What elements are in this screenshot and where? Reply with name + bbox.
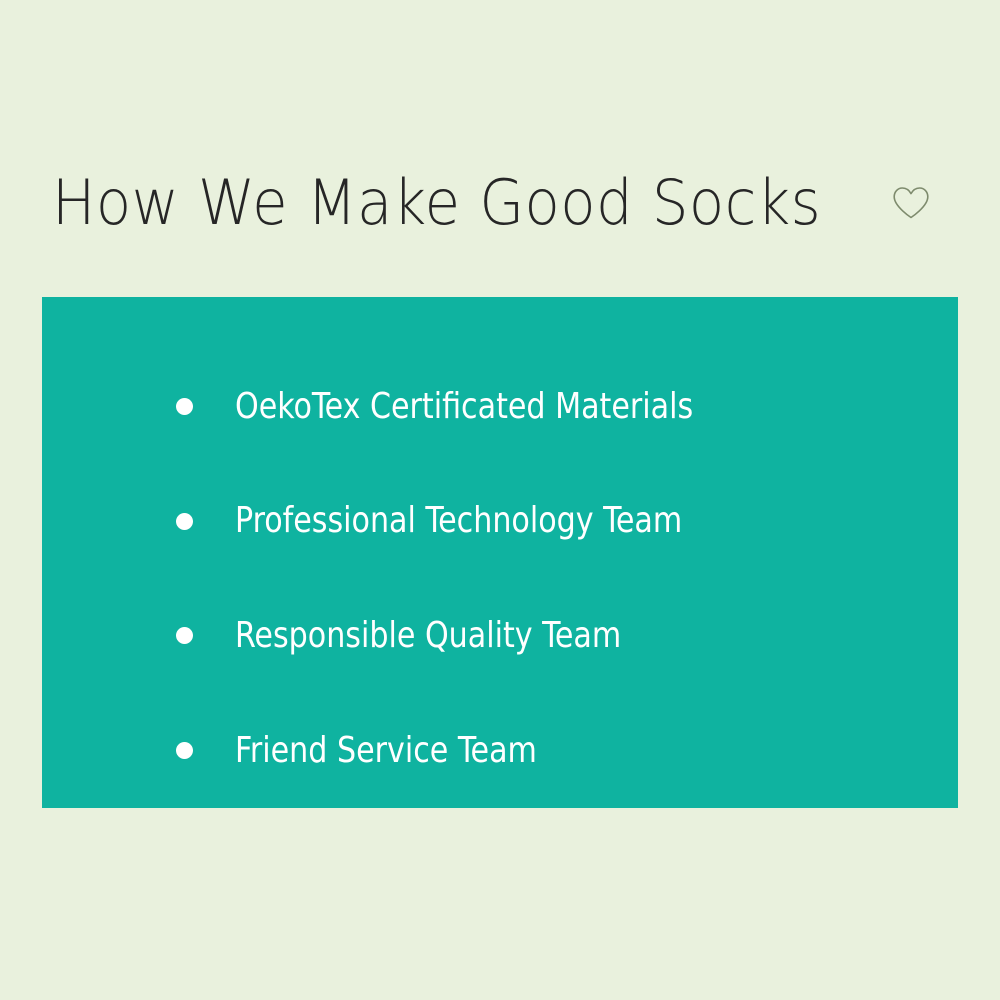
list-item-label: OekoTex Certificated Materials [235,387,693,427]
like-button[interactable] [888,180,934,226]
list-item: Friend Service Team [42,693,958,808]
list-item: OekoTex Certificated Materials [42,349,958,464]
list-item-label: Professional Technology Team [235,501,682,541]
list-item-label: Responsible Quality Team [235,616,621,656]
bullet-dot-icon [176,627,193,644]
list-item-label: Friend Service Team [235,731,537,771]
card-header: How We Make Good Socks [52,160,942,246]
feature-list: OekoTex Certificated Materials Professio… [42,297,958,808]
heart-outline-icon [891,185,931,221]
feature-panel: OekoTex Certificated Materials Professio… [42,297,958,808]
list-item: Responsible Quality Team [42,579,958,694]
promo-card: How We Make Good Socks OekoTex Certifica… [0,0,1000,1000]
bullet-dot-icon [176,398,193,415]
list-item: Professional Technology Team [42,464,958,579]
page-title: How We Make Good Socks [52,172,821,234]
bullet-dot-icon [176,513,193,530]
bullet-dot-icon [176,742,193,759]
